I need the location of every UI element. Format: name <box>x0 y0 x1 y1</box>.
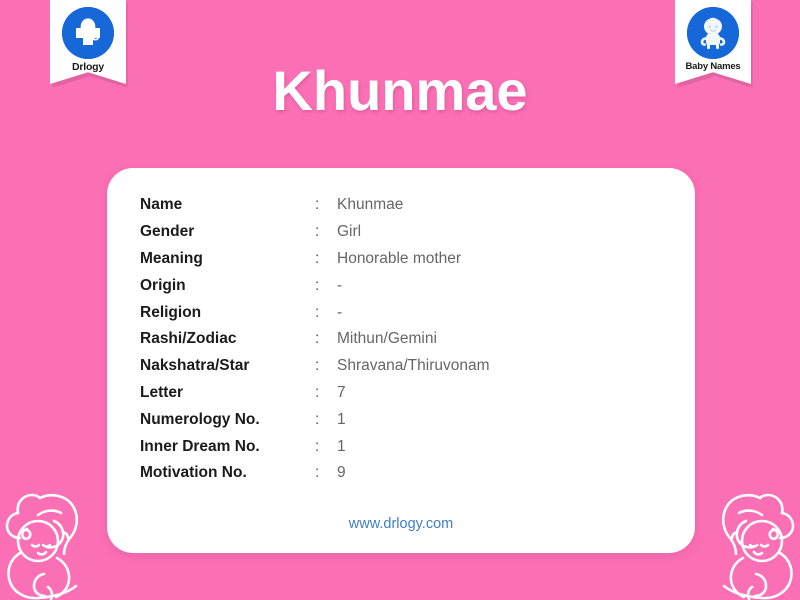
table-row: Rashi/Zodiac : Mithun/Gemini <box>140 326 490 353</box>
row-label: Name <box>140 192 315 219</box>
row-label: Nakshatra/Star <box>140 353 315 380</box>
table-row: Nakshatra/Star : Shravana/Thiruvonam <box>140 353 490 380</box>
name-details-table: Name : Khunmae Gender : Girl Meaning : H… <box>140 192 490 487</box>
row-separator: : <box>315 326 335 353</box>
table-row: Motivation No. : 9 <box>140 460 490 487</box>
row-separator: : <box>315 272 335 299</box>
mother-and-baby-icon-right <box>692 475 800 600</box>
row-separator: : <box>315 192 335 219</box>
row-value: 7 <box>335 380 490 407</box>
table-row: Letter : 7 <box>140 380 490 407</box>
row-value: Honorable mother <box>335 246 490 273</box>
row-separator: : <box>315 460 335 487</box>
row-separator: : <box>315 219 335 246</box>
name-detail-card: Name : Khunmae Gender : Girl Meaning : H… <box>107 168 695 553</box>
table-row: Origin : - <box>140 272 490 299</box>
row-label: Inner Dream No. <box>140 433 315 460</box>
baby-icon <box>687 7 739 59</box>
row-value: - <box>335 272 490 299</box>
row-label: Rashi/Zodiac <box>140 326 315 353</box>
row-separator: : <box>315 299 335 326</box>
row-label: Motivation No. <box>140 460 315 487</box>
row-separator: : <box>315 246 335 273</box>
row-label: Origin <box>140 272 315 299</box>
row-separator: : <box>315 353 335 380</box>
row-separator: : <box>315 433 335 460</box>
row-value: 1 <box>335 406 490 433</box>
row-label: Meaning <box>140 246 315 273</box>
table-row: Gender : Girl <box>140 219 490 246</box>
row-label: Gender <box>140 219 315 246</box>
row-label: Letter <box>140 380 315 407</box>
row-value: 1 <box>335 433 490 460</box>
row-value: Mithun/Gemini <box>335 326 490 353</box>
website-link[interactable]: www.drlogy.com <box>107 516 695 532</box>
row-value: Khunmae <box>335 192 490 219</box>
doctor-stethoscope-icon: P <box>62 7 114 59</box>
row-value: 9 <box>335 460 490 487</box>
table-row: Numerology No. : 1 <box>140 406 490 433</box>
table-row: Inner Dream No. : 1 <box>140 433 490 460</box>
table-row: Name : Khunmae <box>140 192 490 219</box>
table-row: Meaning : Honorable mother <box>140 246 490 273</box>
row-label: Religion <box>140 299 315 326</box>
row-value: Shravana/Thiruvonam <box>335 353 490 380</box>
mother-and-baby-icon-left <box>0 475 108 600</box>
row-separator: : <box>315 380 335 407</box>
row-label: Numerology No. <box>140 406 315 433</box>
page-title: Khunmae <box>0 60 800 122</box>
table-row: Religion : - <box>140 299 490 326</box>
poster-canvas: P Drlogy Baby Names Khunmae <box>0 0 800 600</box>
row-value: Girl <box>335 219 490 246</box>
row-separator: : <box>315 406 335 433</box>
svg-text:P: P <box>94 34 97 39</box>
row-value: - <box>335 299 490 326</box>
